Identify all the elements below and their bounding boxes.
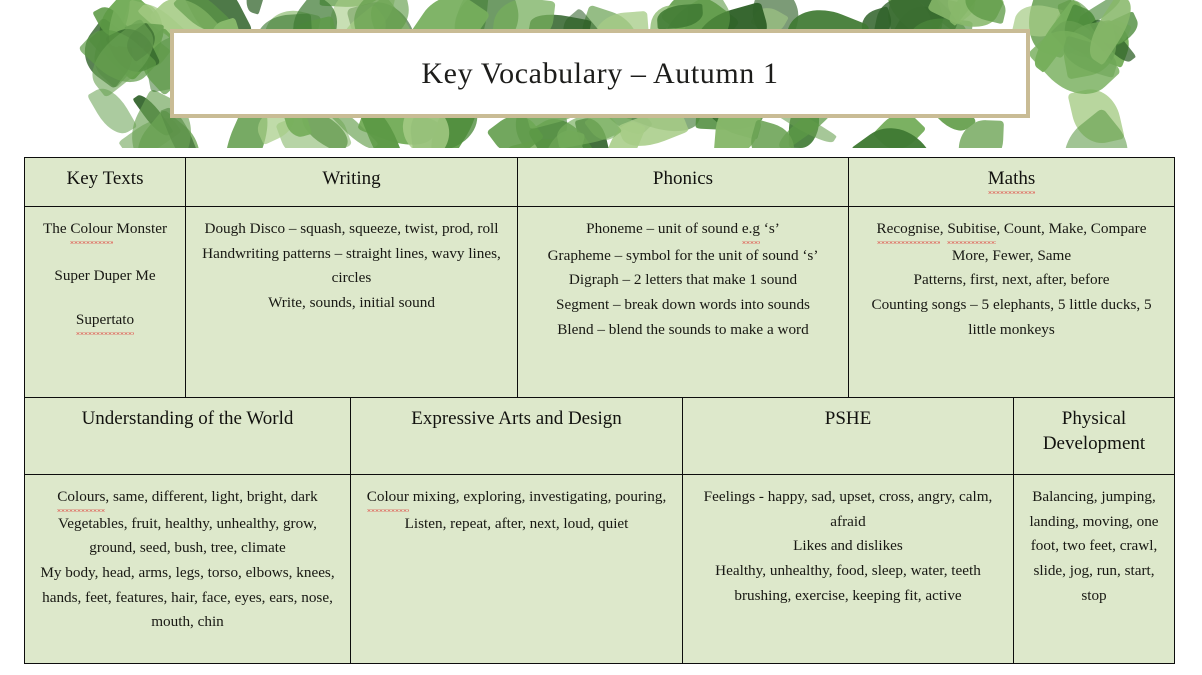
header-cell-key-texts: Key Texts [25,158,186,207]
header-cell-understanding-of-the-world: Understanding of the World [25,398,351,475]
cell-line: Feelings - happy, sad, upset, cross, ang… [690,485,1006,510]
cell-line: Counting songs – 5 elephants, 5 little d… [856,293,1167,318]
header-cell-physical-development: Physical Development [1014,398,1175,475]
cell-line: Blend – blend the sounds to make a word [525,318,841,343]
table-row-content-top: The Colour MonsterSuper Duper MeSupertat… [25,207,1175,400]
cell-line: Balancing, jumping, [1021,485,1167,510]
cell-line: Colour mixing, exploring, investigating,… [358,485,675,512]
cell-line: Healthy, unhealthy, food, sleep, water, … [690,559,1006,584]
cell-line: Dough Disco – squash, squeeze, twist, pr… [193,217,510,242]
cell-line: Patterns, first, next, after, before [856,268,1167,293]
cell-line: ground, seed, bush, tree, climate [32,536,343,561]
cell-line: Digraph – 2 letters that make 1 sound [525,268,841,293]
cell-line: foot, two feet, crawl, [1021,534,1167,559]
cell-line: slide, jog, run, start, [1021,559,1167,584]
vocabulary-table-top: Key Texts Writing Phonics Maths The Colo… [24,157,1175,400]
header-cell-writing: Writing [186,158,518,207]
cell-line: Supertato [32,308,178,335]
content-cell-pshe: Feelings - happy, sad, upset, cross, ang… [683,475,1014,664]
content-cell-maths: Recognise, Subitise, Count, Make, Compar… [849,207,1175,400]
cell-text: Balancing, jumping,landing, moving, onef… [1014,475,1174,614]
header-label: Expressive Arts and Design [411,408,622,429]
cell-line: circles [193,266,510,291]
page-title: Key Vocabulary – Autumn 1 [421,57,778,91]
cell-line: Super Duper Me [32,264,178,289]
header-label: Understanding of the World [82,408,294,429]
table-row-headers-bottom: Understanding of the World Expressive Ar… [25,398,1175,475]
cell-text: Phoneme – unit of sound e.g ‘s’Grapheme … [518,207,848,348]
cell-line: The Colour Monster [32,217,178,244]
cell-line: Recognise, Subitise, Count, Make, Compar… [856,217,1167,244]
cell-line: Likes and dislikes [690,534,1006,559]
cell-text: Dough Disco – squash, squeeze, twist, pr… [186,207,517,322]
title-plate: Key Vocabulary – Autumn 1 [170,29,1030,118]
cell-line: Listen, repeat, after, next, loud, quiet [358,512,675,537]
content-cell-writing: Dough Disco – squash, squeeze, twist, pr… [186,207,518,400]
cell-line: Write, sounds, initial sound [193,291,510,316]
cell-line: Phoneme – unit of sound e.g ‘s’ [525,217,841,244]
cell-line: Segment – break down words into sounds [525,293,841,318]
content-cell-understanding-of-the-world: Colours, same, different, light, bright,… [25,475,351,664]
leaf-shape [1048,108,1145,148]
content-cell-phonics: Phoneme – unit of sound e.g ‘s’Grapheme … [518,207,849,400]
cell-text: Feelings - happy, sad, upset, cross, ang… [683,475,1013,614]
cell-line: landing, moving, one [1021,510,1167,535]
header-cell-phonics: Phonics [518,158,849,207]
cell-line: brushing, exercise, keeping fit, active [690,584,1006,609]
header-cell-expressive-arts-and-design: Expressive Arts and Design [351,398,683,475]
cell-line: hands, feet, features, hair, face, eyes,… [32,586,343,611]
vocabulary-table-bottom: Understanding of the World Expressive Ar… [24,397,1175,664]
cell-text: Colours, same, different, light, bright,… [25,475,350,641]
cell-text: The Colour MonsterSuper Duper MeSupertat… [25,207,185,341]
cell-line: afraid [690,510,1006,535]
cell-line: Colours, same, different, light, bright,… [32,485,343,512]
header-label: Maths [988,167,1036,194]
header-label: Writing [322,168,380,189]
cell-line: My body, head, arms, legs, torso, elbows… [32,561,343,586]
cell-text: Recognise, Subitise, Count, Make, Compar… [849,207,1174,348]
header-banner: Key Vocabulary – Autumn 1 [0,0,1202,148]
cell-line: Vegetables, fruit, healthy, unhealthy, g… [32,512,343,537]
cell-line: mouth, chin [32,610,343,635]
content-cell-key-texts: The Colour MonsterSuper Duper MeSupertat… [25,207,186,400]
header-label: Physical Development [1043,408,1145,454]
header-cell-pshe: PSHE [683,398,1014,475]
content-cell-physical-development: Balancing, jumping,landing, moving, onef… [1014,475,1175,664]
cell-line: little monkeys [856,318,1167,343]
cell-line: stop [1021,584,1167,609]
table-row-headers-top: Key Texts Writing Phonics Maths [25,158,1175,207]
header-label: PSHE [825,408,871,429]
leaf-shape [243,0,269,14]
table-row-content-bottom: Colours, same, different, light, bright,… [25,475,1175,664]
cell-line: More, Fewer, Same [856,244,1167,269]
header-label: Phonics [653,168,713,189]
document-page: Key Vocabulary – Autumn 1 Key Texts Writ… [0,0,1202,675]
cell-line: Grapheme – symbol for the unit of sound … [525,244,841,269]
content-cell-expressive-arts-and-design: Colour mixing, exploring, investigating,… [351,475,683,664]
header-label: Key Texts [67,168,144,189]
cell-text: Colour mixing, exploring, investigating,… [351,475,682,542]
header-cell-maths: Maths [849,158,1175,207]
cell-line: Handwriting patterns – straight lines, w… [193,242,510,267]
